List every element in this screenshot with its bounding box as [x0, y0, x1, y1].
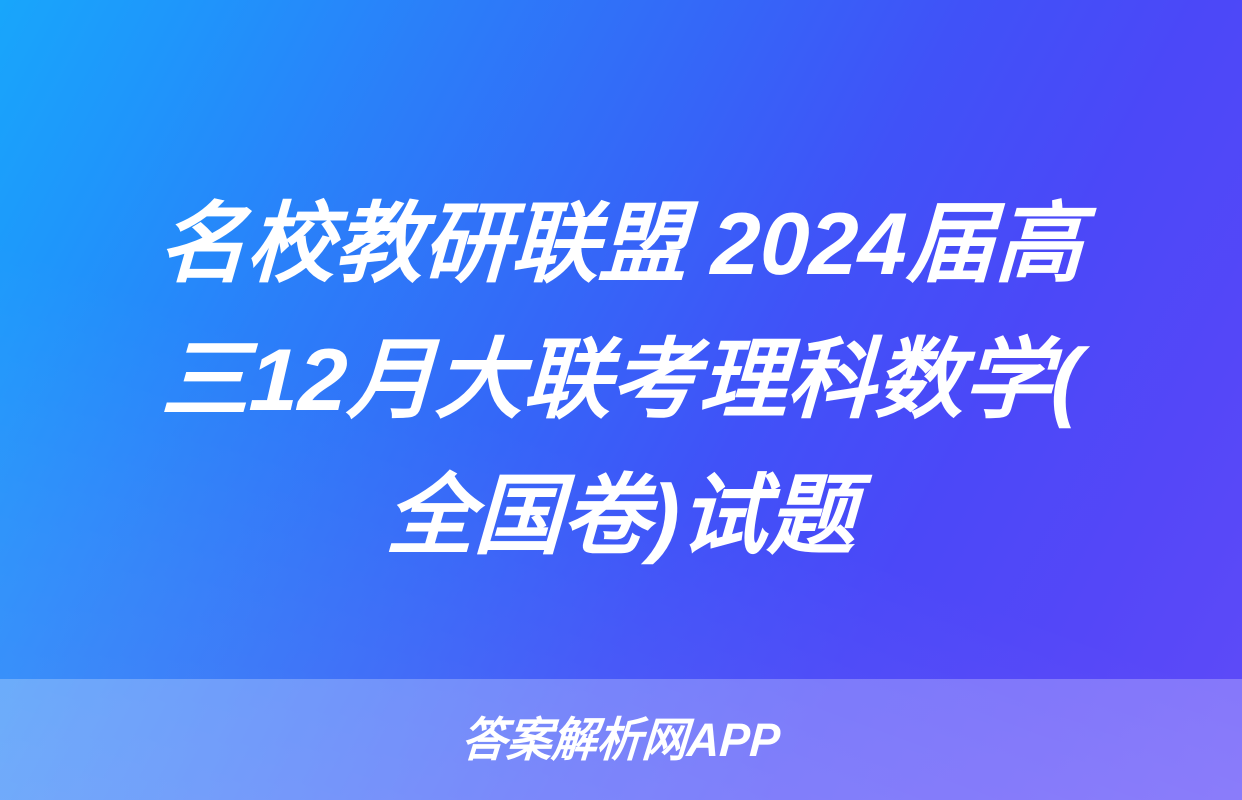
- page-title: 名校教研联盟 2024届高 三12月大联考理科数学( 全国卷)试题: [0, 176, 1242, 584]
- exam-paper-cover-banner: 名校教研联盟 2024届高 三12月大联考理科数学( 全国卷)试题 答案解析网A…: [0, 0, 1242, 800]
- title-line-1: 名校教研联盟 2024届高: [26, 176, 1217, 312]
- watermark-band: 答案解析网APP: [0, 679, 1242, 800]
- app-watermark-label: 答案解析网APP: [460, 716, 782, 763]
- title-line-3: 全国卷)试题: [26, 448, 1217, 584]
- title-line-2: 三12月大联考理科数学(: [26, 312, 1217, 448]
